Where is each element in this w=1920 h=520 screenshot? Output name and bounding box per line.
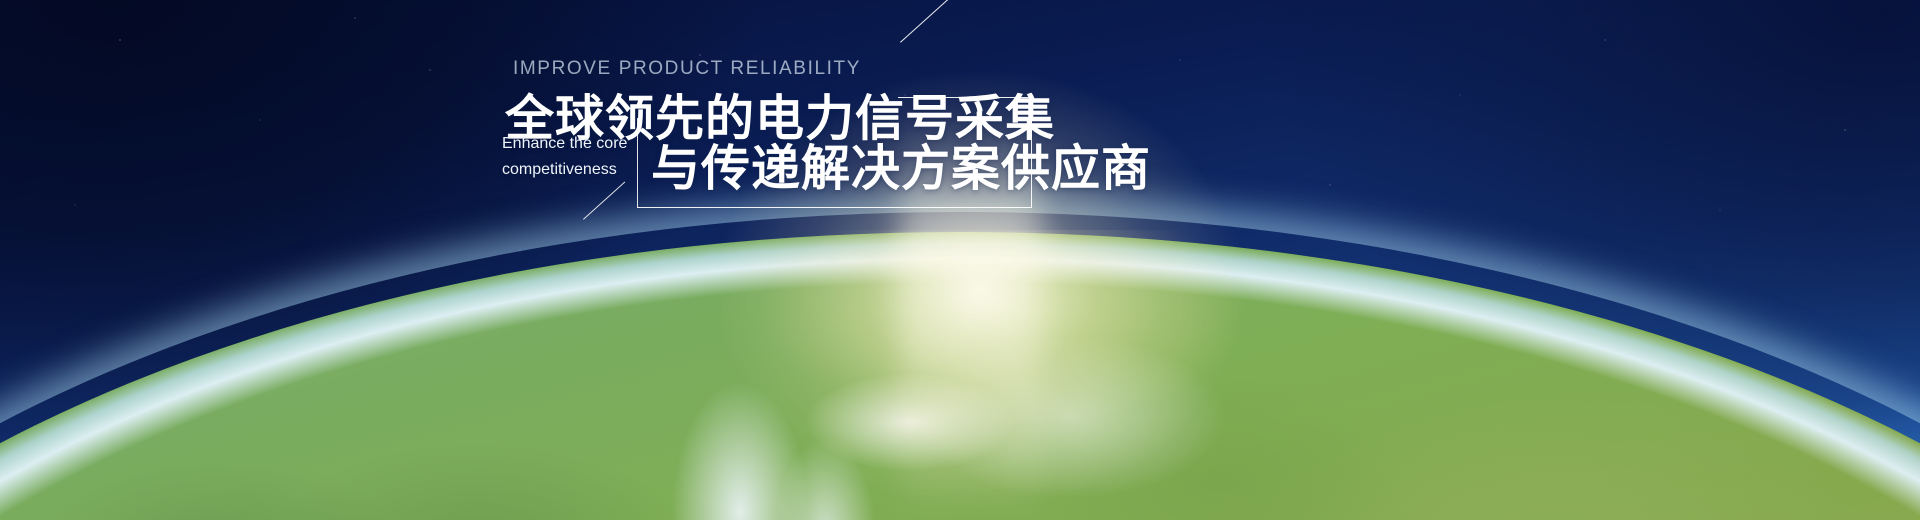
banner-headline-line-2: 与传递解决方案供应商 bbox=[651, 129, 1151, 200]
diagonal-accent-top bbox=[900, 0, 984, 43]
banner-subcopy: Enhance the core competitiveness bbox=[502, 131, 627, 183]
banner-eyebrow: IMPROVE PRODUCT RELIABILITY bbox=[513, 58, 861, 80]
diagonal-accent-bottom bbox=[583, 182, 625, 220]
banner-copy-block: IMPROVE PRODUCT RELIABILITY 全球领先的电力信号采集 … bbox=[0, 0, 1920, 520]
banner-subcopy-line-2: competitiveness bbox=[502, 157, 627, 183]
banner-subcopy-line-1: Enhance the core bbox=[502, 131, 627, 157]
bracket-right-rule bbox=[1031, 97, 1032, 208]
vertical-divider-rule bbox=[637, 118, 638, 208]
hero-banner: IMPROVE PRODUCT RELIABILITY 全球领先的电力信号采集 … bbox=[0, 0, 1920, 520]
bracket-bottom-rule bbox=[637, 207, 1032, 208]
bracket-top-rule bbox=[898, 97, 1032, 98]
